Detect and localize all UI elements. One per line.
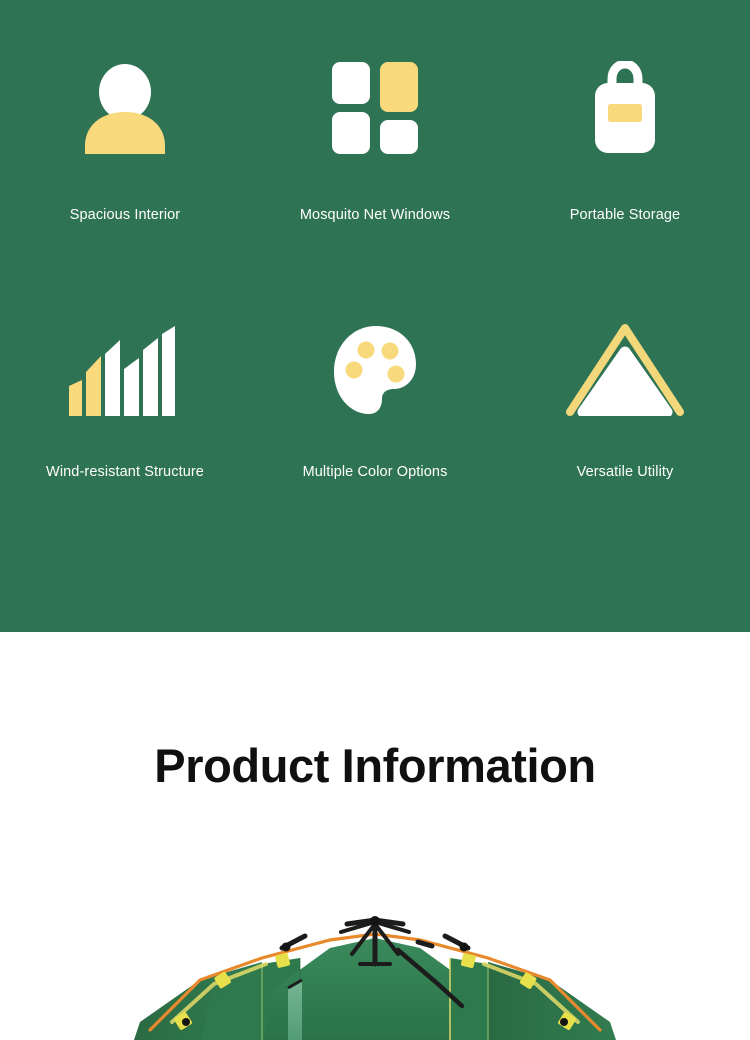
color-palette-icon: [315, 320, 435, 420]
feature-item-multiple-color-options[interactable]: Multiple Color Options: [250, 320, 500, 480]
feature-label: Mosquito Net Windows: [300, 208, 450, 223]
tent-icon: [565, 320, 685, 420]
feature-label: Portable Storage: [570, 208, 680, 223]
storage-bag-icon: [565, 58, 685, 158]
feature-item-wind-resistant-structure[interactable]: Wind-resistant Structure: [0, 320, 250, 480]
feature-label: Multiple Color Options: [303, 465, 448, 480]
feature-label: Spacious Interior: [70, 208, 181, 223]
grid-window-icon: [315, 58, 435, 158]
person-icon: [65, 58, 185, 158]
feature-item-portable-storage[interactable]: Portable Storage: [500, 58, 750, 223]
features-panel: Spacious Interior Mosquito Net Windows: [0, 0, 750, 632]
feature-label: Versatile Utility: [577, 465, 674, 480]
feature-item-versatile-utility[interactable]: Versatile Utility: [500, 320, 750, 480]
feature-item-spacious-interior[interactable]: Spacious Interior: [0, 58, 250, 223]
product-information-title: Product Information: [0, 742, 750, 789]
product-section: Product Information: [0, 632, 750, 1040]
feature-item-mosquito-net-windows[interactable]: Mosquito Net Windows: [250, 58, 500, 223]
features-grid: Spacious Interior Mosquito Net Windows: [0, 0, 750, 479]
feature-label: Wind-resistant Structure: [46, 465, 204, 480]
feature-row: Wind-resistant Structure Multiple Color …: [0, 320, 750, 480]
bar-chart-icon: [65, 320, 185, 420]
green-dome-tent-photo: [0, 902, 750, 1040]
feature-row: Spacious Interior Mosquito Net Windows: [0, 58, 750, 223]
